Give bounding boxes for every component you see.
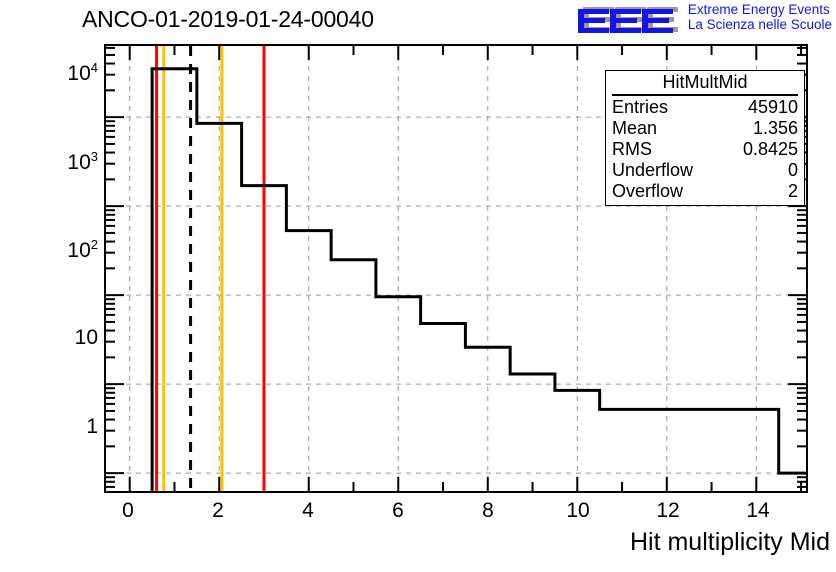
x-axis-title: Hit multiplicity Mid [630,528,830,557]
x-tick-label-2: 2 [212,499,224,523]
stats-label-underflow: Underflow [612,160,693,181]
stats-label-entries: Entries [612,97,668,118]
stats-row-overflow: Overflow 2 [612,181,798,202]
x-tick-label-4: 4 [302,499,314,523]
stats-row-entries: Entries 45910 [612,97,798,118]
y-tick-label-1: 1 [48,415,98,439]
eee-logo-icon [574,4,682,36]
y-tick-label-10: 10 [48,326,98,350]
marker-lines [157,46,264,491]
chart-canvas: ANCO-01-2019-01-24-00040 Extreme Energy … [0,0,836,572]
y-tick-label-1e3: 103 [48,149,98,175]
x-tick-label-12: 12 [656,499,679,523]
stats-value-mean: 1.356 [753,118,798,139]
stats-label-rms: RMS [612,139,652,160]
eee-logo: Extreme Energy Events La Scienza nelle S… [574,3,832,36]
stats-row-underflow: Underflow 0 [612,160,798,181]
stats-value-underflow: 0 [788,160,798,181]
stats-value-entries: 45910 [748,97,798,118]
stats-box: HitMultMid Entries 45910 Mean 1.356 RMS … [605,70,805,206]
stats-label-mean: Mean [612,118,657,139]
y-tick-label-1e2: 102 [48,237,98,263]
stats-value-overflow: 2 [788,181,798,202]
eee-logo-line2: La Scienza nelle Scuole [688,18,832,33]
x-tick-label-8: 8 [482,499,494,523]
x-tick-label-10: 10 [566,499,589,523]
eee-logo-mark [574,4,682,36]
stats-row-mean: Mean 1.356 [612,118,798,139]
stats-row-rms: RMS 0.8425 [612,139,798,160]
y-tick-label-1e4: 104 [48,60,98,86]
stats-label-overflow: Overflow [612,181,683,202]
eee-logo-text: Extreme Energy Events La Scienza nelle S… [688,3,832,32]
x-tick-label-0: 0 [122,499,134,523]
x-tick-label-14: 14 [746,499,769,523]
stats-value-rms: 0.8425 [743,139,798,160]
eee-logo-line1: Extreme Energy Events [688,3,832,18]
page-title: ANCO-01-2019-01-24-00040 [82,6,374,33]
stats-title: HitMultMid [612,72,798,96]
x-tick-label-6: 6 [392,499,404,523]
